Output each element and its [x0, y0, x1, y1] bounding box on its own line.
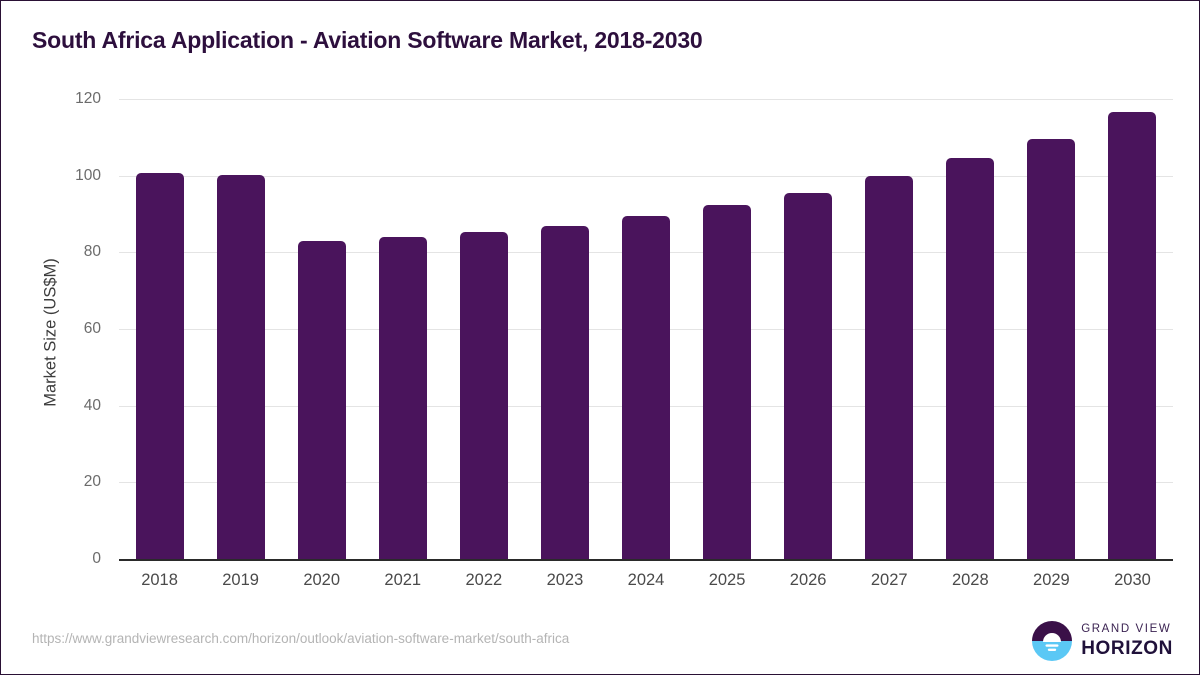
bar[interactable] — [784, 193, 832, 559]
x-tick-label: 2022 — [439, 571, 529, 590]
x-tick-label: 2030 — [1087, 571, 1177, 590]
x-tick-label: 2028 — [925, 571, 1015, 590]
y-tick-label: 0 — [41, 550, 101, 568]
x-tick-label: 2020 — [277, 571, 367, 590]
brand-logo-text: GRAND VIEW HORIZON — [1081, 624, 1173, 658]
x-tick-label: 2025 — [682, 571, 772, 590]
y-axis-tick-labels: 020406080100120 — [41, 99, 101, 559]
bar[interactable] — [217, 175, 265, 559]
x-tick-label: 2023 — [520, 571, 610, 590]
source-url[interactable]: https://www.grandviewresearch.com/horizo… — [32, 631, 569, 646]
bar[interactable] — [703, 205, 751, 559]
bar[interactable] — [946, 158, 994, 559]
y-tick-label: 40 — [41, 397, 101, 415]
x-tick-label: 2018 — [115, 571, 205, 590]
bar[interactable] — [1027, 139, 1075, 559]
bar[interactable] — [136, 173, 184, 559]
x-axis-line — [119, 559, 1173, 561]
bar[interactable] — [865, 176, 913, 559]
y-tick-label: 120 — [41, 90, 101, 108]
y-tick-label: 20 — [41, 473, 101, 491]
x-tick-label: 2027 — [844, 571, 934, 590]
x-tick-label: 2026 — [763, 571, 853, 590]
x-tick-label: 2024 — [601, 571, 691, 590]
x-tick-label: 2021 — [358, 571, 448, 590]
plot-area — [119, 99, 1173, 559]
bar[interactable] — [1108, 112, 1156, 559]
brand-logo: GRAND VIEW HORIZON — [1032, 621, 1173, 661]
x-axis-tick-labels: 2018201920202021202220232024202520262027… — [119, 571, 1173, 599]
grand-view-horizon-logo-icon — [1032, 621, 1072, 661]
chart-page: South Africa Application - Aviation Soft… — [0, 0, 1200, 675]
page-title: South Africa Application - Aviation Soft… — [32, 27, 703, 54]
brand-logo-top-text: GRAND VIEW — [1081, 624, 1173, 636]
bar[interactable] — [460, 232, 508, 559]
y-tick-label: 60 — [41, 320, 101, 338]
bar[interactable] — [541, 226, 589, 559]
x-tick-label: 2029 — [1006, 571, 1096, 590]
bar[interactable] — [622, 216, 670, 559]
gridline — [119, 176, 1173, 177]
x-tick-label: 2019 — [196, 571, 286, 590]
bar[interactable] — [298, 241, 346, 559]
brand-logo-bottom-text: HORIZON — [1081, 639, 1173, 658]
gridline — [119, 99, 1173, 100]
y-tick-label: 80 — [41, 243, 101, 261]
y-tick-label: 100 — [41, 167, 101, 185]
bar[interactable] — [379, 237, 427, 559]
